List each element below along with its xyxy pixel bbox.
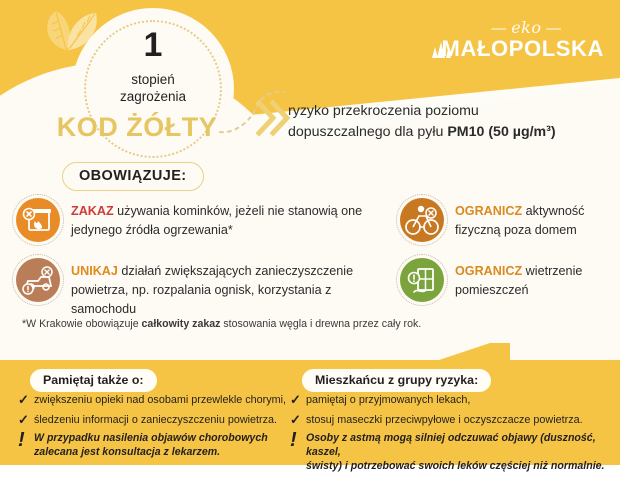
icon-dotted-ring <box>12 194 64 246</box>
obligation-body: używania kominków, jeżeli nie stanowią o… <box>71 204 362 237</box>
window-airing-icon <box>400 258 444 302</box>
list-item-text: śledzeniu informacji o zanieczyszczeniu … <box>34 413 277 428</box>
obligation-keyword: OGRANICZ <box>455 264 522 278</box>
list-item-warning: ! Osoby z astmą mogą silniej odczuwać ob… <box>290 432 615 474</box>
warning-line-1: W przypadku nasilenia objawów chorobowyc… <box>34 432 268 444</box>
risk-line-2-bold: PM10 (50 µg/m³) <box>447 124 555 140</box>
list-item: ✓ śledzeniu informacji o zanieczyszczeni… <box>18 413 298 428</box>
obligation-item: ZAKAZ używania kominków, jeżeli nie stan… <box>16 198 376 242</box>
fireplace-ban-icon <box>16 198 60 242</box>
obligation-text: OGRANICZ wietrzenie pomieszczeń <box>455 258 615 300</box>
footer-right-title: Mieszkańcu z grupy ryzyka: <box>302 369 491 392</box>
check-icon: ✓ <box>18 393 34 407</box>
logo: eko MAŁOPOLSKA <box>414 16 604 66</box>
bicycle-limit-icon <box>400 198 444 242</box>
footnote-suffix: stosowania węgla i drewna przez cały rok… <box>220 318 421 330</box>
car-bonfire-avoid-icon <box>16 258 60 302</box>
footnote: *W Krakowie obowiązuje całkowity zakaz s… <box>22 318 492 330</box>
list-item-text: zwiększeniu opieki nad osobami przewlekl… <box>34 393 286 408</box>
exclamation-icon: ! <box>290 432 306 449</box>
warning-text: W przypadku nasilenia objawów chorobowyc… <box>34 432 268 460</box>
footer-right-list: ✓ pamiętaj o przyjmowanych lekach, ✓ sto… <box>290 393 615 479</box>
obligation-keyword: ZAKAZ <box>71 204 114 218</box>
obligation-item: OGRANICZ wietrzenie pomieszczeń <box>400 258 615 302</box>
obligation-keyword: UNIKAJ <box>71 264 118 278</box>
list-item: ✓ stosuj maseczki przeciwpyłowe i oczysz… <box>290 413 615 428</box>
footer-left-title: Pamiętaj także o: <box>30 369 157 392</box>
obligation-text: ZAKAZ używania kominków, jeżeli nie stan… <box>71 198 376 240</box>
list-item: ✓ zwiększeniu opieki nad osobami przewle… <box>18 393 298 408</box>
icon-dotted-ring <box>396 194 448 246</box>
check-icon: ✓ <box>290 413 306 427</box>
warning-line-2: zalecana jest konsultacja z lekarzem. <box>34 446 220 458</box>
degree-number: 1 <box>72 28 234 62</box>
air-quality-alert-poster: 1 stopień zagrożenia KOD ŻÓŁTY ryzyko pr… <box>0 0 620 465</box>
logo-name-text: MAŁOPOLSKA <box>442 36 604 62</box>
list-item: ✓ pamiętaj o przyjmowanych lekach, <box>290 393 615 408</box>
obligation-keyword: OGRANICZ <box>455 204 522 218</box>
risk-line-2-prefix: dopuszczalnego dla pyłu <box>288 124 447 140</box>
exclamation-icon: ! <box>18 432 34 449</box>
risk-description: ryzyko przekroczenia poziomu dopuszczaln… <box>288 101 618 144</box>
footnote-bold: całkowity zakaz <box>142 318 221 330</box>
obligation-item: UNIKAJ działań zwiększających zanieczysz… <box>16 258 396 319</box>
warning-line-2: świsty) i potrzebować swoich leków częśc… <box>306 460 604 472</box>
obligations-banner: OBOWIĄZUJE: <box>62 162 204 191</box>
risk-line-1: ryzyko przekroczenia poziomu <box>288 103 479 119</box>
check-icon: ✓ <box>18 413 34 427</box>
obligation-text: UNIKAJ działań zwiększających zanieczysz… <box>71 258 396 319</box>
list-item-text: pamiętaj o przyjmowanych lekach, <box>306 393 470 408</box>
warning-text: Osoby z astmą mogą silniej odczuwać obja… <box>306 432 615 474</box>
list-item-text: stosuj maseczki przeciwpyłowe i oczyszcz… <box>306 413 583 428</box>
warning-line-1: Osoby z astmą mogą silniej odczuwać obja… <box>306 432 596 458</box>
degree-label-line2: zagrożenia <box>72 89 234 104</box>
footnote-prefix: *W Krakowie obowiązuje <box>22 318 142 330</box>
check-icon: ✓ <box>290 393 306 407</box>
icon-dotted-ring <box>12 254 64 306</box>
obligation-item: OGRANICZ aktywność fizyczną poza domem <box>400 198 615 242</box>
obligation-text: OGRANICZ aktywność fizyczną poza domem <box>455 198 615 240</box>
degree-label-line1: stopień <box>72 72 234 87</box>
list-item-warning: ! W przypadku nasilenia objawów chorobow… <box>18 432 298 460</box>
logo-eko-text: eko <box>491 18 562 37</box>
icon-dotted-ring <box>396 254 448 306</box>
footer-left-list: ✓ zwiększeniu opieki nad osobami przewle… <box>18 393 298 465</box>
